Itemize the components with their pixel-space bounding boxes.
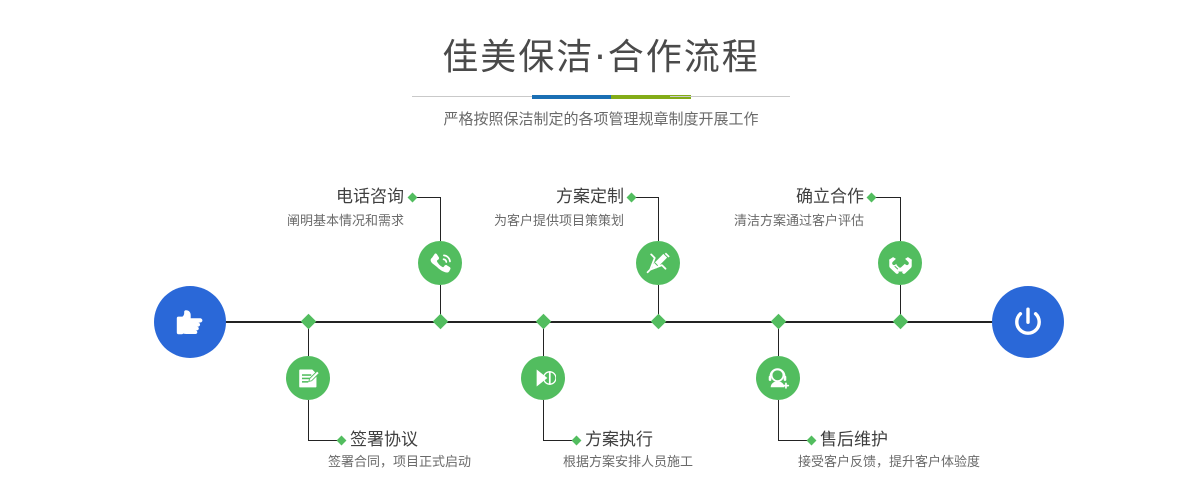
play-execute-icon [530,365,556,391]
step-node-1[interactable] [418,241,462,285]
step-node-3[interactable] [636,241,680,285]
step-connector-4 [543,326,544,356]
step-desc-3: 为客户提供项目策策划 [420,212,624,232]
step-desc-1: 阐明基本情况和需求 [200,212,404,232]
step-label-arm-2 [308,440,340,441]
step-label-stem-6 [778,400,779,440]
step-connector-3 [658,285,659,316]
step-title-4: 方案执行 [585,429,785,451]
step-label-marker-5 [867,193,877,203]
step-label-stem-5 [900,197,901,241]
step-label-stem-4 [543,400,544,440]
step-title-6: 售后维护 [820,429,1040,451]
step-label-arm-4 [543,440,575,441]
step-connector-6 [778,326,779,356]
headset-support-icon [765,365,791,391]
step-desc-2: 签署合同，项目正式启动 [328,453,558,473]
step-label-arm-6 [778,440,810,441]
timeline-end-node[interactable] [992,286,1064,358]
step-marker-6 [771,314,787,330]
step-label-stem-2 [308,400,309,440]
step-node-2[interactable] [286,356,330,400]
step-marker-5 [893,314,909,330]
step-node-5[interactable] [878,241,922,285]
step-desc-6: 接受客户反馈，提升客户体验度 [798,453,1058,473]
step-marker-4 [536,314,552,330]
pencil-ruler-design-icon [645,250,671,276]
step-title-1: 电话咨询 [220,186,404,208]
step-marker-1 [433,314,449,330]
handshake-icon [887,250,914,277]
process-timeline: 电话咨询 阐明基本情况和需求 签署协议 签署合同，项目正式启动 [0,0,1202,502]
document-sign-icon [295,365,321,391]
step-label-marker-3 [627,193,637,203]
step-title-3: 方案定制 [440,186,624,208]
step-desc-5: 清洁方案通过客户评估 [654,212,864,232]
step-marker-2 [301,314,317,330]
step-title-5: 确立合作 [680,186,864,208]
step-connector-5 [900,285,901,316]
step-node-6[interactable] [756,356,800,400]
power-icon [1008,302,1048,342]
step-connector-1 [440,285,441,316]
step-title-2: 签署协议 [350,429,550,451]
step-label-marker-2 [337,436,347,446]
phone-call-icon [427,250,453,276]
step-label-marker-4 [572,436,582,446]
step-label-marker-6 [807,436,817,446]
step-connector-2 [308,326,309,356]
timeline-start-node[interactable] [154,286,226,358]
step-desc-4: 根据方案安排人员施工 [563,453,793,473]
step-node-4[interactable] [521,356,565,400]
step-marker-3 [651,314,667,330]
step-label-marker-1 [408,193,418,203]
thumbs-up-pointing-hand-icon [170,302,210,342]
